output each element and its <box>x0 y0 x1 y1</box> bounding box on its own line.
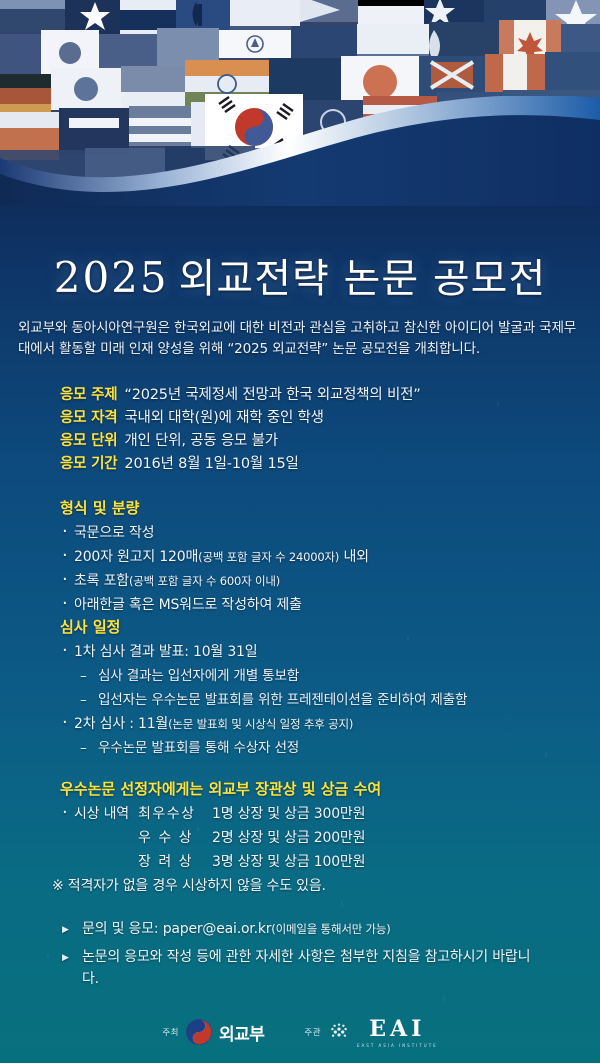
title-year: 2025 <box>54 253 169 302</box>
organizer-tag: 주관 <box>304 1026 321 1038</box>
format-item-text: 국문으로 작성 <box>74 525 154 541</box>
schedule-second-text: 2차 심사 : 11월 <box>74 716 168 732</box>
entry-unit-row: 응모 단위개인 단위, 공동 응모 불가 <box>60 430 590 453</box>
intro-paragraph: 외교부와 동아시아연구원은 한국외교에 대한 비전과 관심을 고취하고 참신한 … <box>18 318 584 360</box>
awards-grade: 우 수 상 <box>138 826 212 850</box>
awards-detail: 3명 상장 및 상금 100만원 <box>212 850 590 874</box>
format-item: 200자 원고지 120매(공백 포함 글자 수 24000자) 내외 <box>60 545 590 569</box>
schedule-heading: 심사 일정 <box>60 616 590 637</box>
entry-eligibility-row: 응모 자격국내외 대학(원)에 재학 중인 학생 <box>60 407 590 430</box>
entry-eligibility-label: 응모 자격 <box>60 410 117 426</box>
organizer-wordmark: EAI EAST ASIA INSTITUTE <box>357 1016 438 1048</box>
schedule-first-sub: 입선자는 우수논문 발표회를 위한 프레젠테이션을 준비하여 제출함 <box>60 688 590 712</box>
poster-root: 2025외교전략 논문 공모전 외교부와 동아시아연구원은 한국외교에 대한 비… <box>0 0 600 1063</box>
awards-list-label: 시상 내역 <box>60 802 138 826</box>
host-organization: 주최 외교부 <box>162 1019 264 1045</box>
organizer-name: EAI <box>369 1016 425 1042</box>
host-tag: 주최 <box>162 1026 179 1038</box>
footer-logos: 주최 외교부 주관 <box>0 1001 600 1063</box>
awards-note: ※ 적격자가 없을 경우 시상하지 않을 수도 있음. <box>52 874 590 898</box>
awards-heading: 우수논문 선정자에게는 외교부 장관상 및 상금 수여 <box>60 778 590 799</box>
awards-block: 우수논문 선정자에게는 외교부 장관상 및 상금 수여 시상 내역 최우수상 1… <box>60 778 590 898</box>
schedule-second-sub: 우수논문 발표회를 통해 수상자 선정 <box>60 736 590 760</box>
title-main: 외교전략 논문 공모전 <box>179 256 547 302</box>
entry-topic-value: “2025년 국제정세 전망과 한국 외교정책의 비전” <box>124 387 420 403</box>
format-item-small: (공백 포함 글자 수 24000자) <box>198 550 339 564</box>
entry-period-label: 응모 기간 <box>60 456 117 472</box>
entry-topic-row: 응모 주제“2025년 국제정세 전망과 한국 외교정책의 비전” <box>60 384 590 407</box>
organizer-organization: 주관 EAI EAST ASIA INSTITUTE <box>304 1016 437 1048</box>
entry-unit-label: 응모 단위 <box>60 433 117 449</box>
format-item: 초록 포함(공백 포함 글자 수 600자 이내) <box>60 569 590 593</box>
entry-info-block: 응모 주제“2025년 국제정세 전망과 한국 외교정책의 비전” 응모 자격국… <box>60 384 590 476</box>
schedule-first-sub: 심사 결과는 입선자에게 개별 통보함 <box>60 664 590 688</box>
contact-email-note: (이메일을 통해서만 가능) <box>271 922 390 936</box>
eai-dots-icon <box>328 1021 350 1043</box>
contact-email-label: 문의 및 응모: <box>82 921 158 937</box>
awards-detail: 1명 상장 및 상금 300만원 <box>212 802 590 826</box>
schedule-second-round: 2차 심사 : 11월(논문 발표회 및 시상식 일정 추후 공지) <box>60 712 590 736</box>
awards-spacer <box>60 826 138 850</box>
page-title: 2025외교전략 논문 공모전 <box>0 246 600 304</box>
host-name: 외교부 <box>219 1020 264 1045</box>
poster-content: 2025외교전략 논문 공모전 외교부와 동아시아연구원은 한국외교에 대한 비… <box>0 0 600 1063</box>
schedule-block: 심사 일정 1차 심사 결과 발표: 10월 31일 심사 결과는 입선자에게 … <box>60 616 590 760</box>
awards-table: 시상 내역 최우수상 1명 상장 및 상금 300만원 우 수 상 2명 상장 … <box>60 802 590 874</box>
format-item: 국문으로 작성 <box>60 521 590 545</box>
contact-email-row: 문의 및 응모: paper@eai.or.kr(이메일을 통해서만 가능) <box>62 918 592 940</box>
format-item-text: 초록 포함 <box>74 573 129 589</box>
format-item-small: (공백 포함 글자 수 600자 이내) <box>129 574 280 588</box>
format-item-text: 200자 원고지 120매 <box>74 549 198 565</box>
schedule-first-round: 1차 심사 결과 발표: 10월 31일 <box>60 640 590 664</box>
taegeuk-icon <box>186 1019 212 1045</box>
schedule-second-small: (논문 발표회 및 시상식 일정 추후 공지) <box>168 717 353 731</box>
awards-grade: 장 려 상 <box>138 850 212 874</box>
format-heading: 형식 및 분량 <box>60 497 590 518</box>
entry-topic-label: 응모 주제 <box>60 387 117 403</box>
contact-email-address[interactable]: paper@eai.or.kr <box>163 921 272 937</box>
awards-grade: 최우수상 <box>138 802 212 826</box>
format-item: 아래한글 혹은 MS워드로 작성하여 제출 <box>60 593 590 617</box>
contact-guideline-row: 논문의 응모와 작성 등에 관한 자세한 사항은 첨부한 지침을 참고하시기 바… <box>62 946 532 990</box>
entry-unit-value: 개인 단위, 공동 응모 불가 <box>124 433 277 449</box>
entry-period-value: 2016년 8월 1일-10월 15일 <box>124 456 298 472</box>
awards-detail: 2명 상장 및 상금 200만원 <box>212 826 590 850</box>
entry-eligibility-value: 국내외 대학(원)에 재학 중인 학생 <box>124 410 323 426</box>
format-item-tail: 내외 <box>339 549 369 565</box>
entry-period-row: 응모 기간2016년 8월 1일-10월 15일 <box>60 453 590 476</box>
format-block: 형식 및 분량 국문으로 작성 200자 원고지 120매(공백 포함 글자 수… <box>60 497 590 617</box>
organizer-subtitle: EAST ASIA INSTITUTE <box>357 1043 438 1048</box>
format-item-text: 아래한글 혹은 MS워드로 작성하여 제출 <box>74 597 302 613</box>
contact-block: 문의 및 응모: paper@eai.or.kr(이메일을 통해서만 가능) 논… <box>62 918 592 990</box>
awards-spacer <box>60 850 138 874</box>
